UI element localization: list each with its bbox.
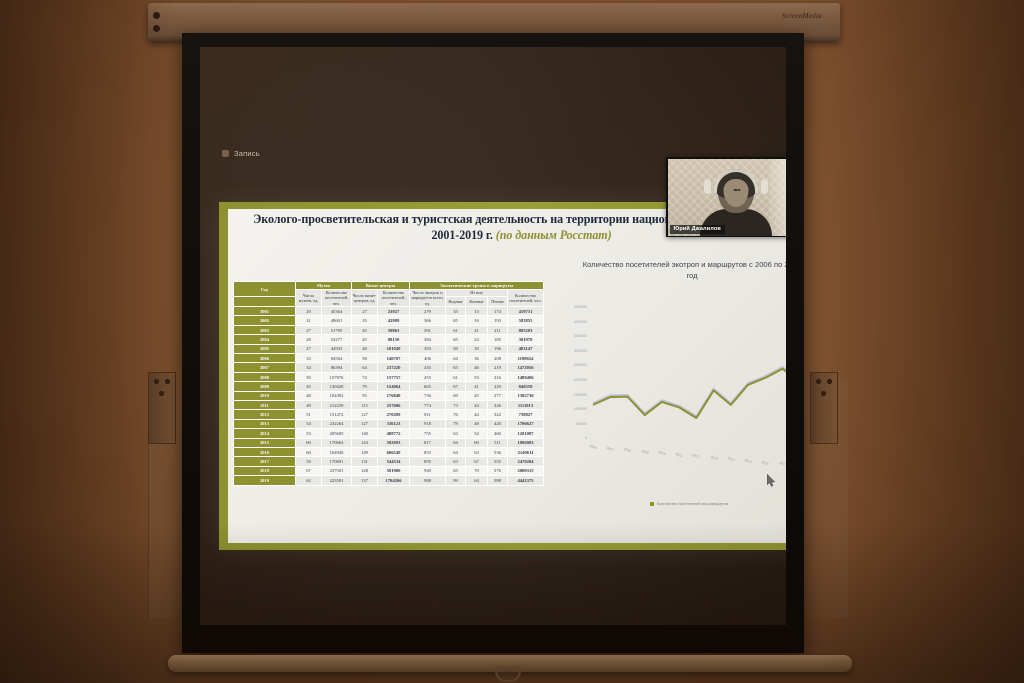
wall-shadow-right — [824, 0, 1024, 683]
webcam-video-feed: Юрий Джалилов — [668, 159, 787, 236]
x-axis-tick: 2013 — [709, 455, 717, 461]
table-cell-trail-visitors: 1489406 — [508, 372, 544, 381]
col-foot: Пешие — [488, 297, 508, 307]
table-cell-trail-visitors: 4442375 — [508, 476, 544, 485]
table-cell-horse: 64 — [466, 476, 488, 485]
table-cell-vc-visitors: 101049 — [378, 344, 410, 353]
table-cell-horse: 46 — [466, 363, 488, 372]
table-cell-museums: 27 — [296, 325, 322, 334]
col-group-of-which: Из них — [446, 290, 508, 297]
table-cell-water: 79 — [446, 419, 466, 428]
table-cell-foot: 576 — [488, 466, 508, 475]
x-axis-tick: 2009 — [640, 449, 648, 455]
table-cell-museums: 45 — [296, 382, 322, 391]
table-cell-year: 2008 — [234, 372, 296, 381]
table-cell-year: 2003 — [234, 325, 296, 334]
table-cell-museums: 59 — [296, 457, 322, 466]
table-cell-trails: 988 — [410, 476, 446, 485]
table-cell-trails: 393 — [410, 344, 446, 353]
table-cell-trail-visitors: 1201087 — [508, 429, 544, 438]
table-cell-trail-visitors: 419731 — [508, 307, 544, 316]
table-cell-trails: 366 — [410, 316, 446, 325]
x-axis-tick: 2007 — [606, 446, 614, 452]
chart-plot-area: 4500000400000035000003000000250000020000… — [553, 307, 786, 477]
table-cell-museum-visitors: 54277 — [322, 335, 352, 344]
table-cell-vc: 74 — [352, 372, 378, 381]
table-cell-year: 2006 — [234, 354, 296, 363]
slide-title-emphasis: (по данным Росстат) — [496, 228, 612, 242]
table-cell-trails: 817 — [410, 438, 446, 447]
table-cell-vc-visitors: 1704266 — [378, 476, 410, 485]
table-cell-museum-visitors: 151472 — [322, 410, 352, 419]
y-axis-tick: 3000000 — [574, 350, 587, 353]
table-cell-horse: 63 — [466, 447, 488, 456]
table-cell-year: 2009 — [234, 382, 296, 391]
table-cell-foot: 211 — [488, 325, 508, 334]
table-cell-foot: 460 — [488, 429, 508, 438]
table-cell-year: 2004 — [234, 335, 296, 344]
table-cell-horse: 16 — [466, 316, 488, 325]
table-cell-water: 63 — [446, 429, 466, 438]
casing-mount-screw — [153, 25, 160, 32]
table-cell-water: 61 — [446, 325, 466, 334]
table-cell-museum-visitors: 232264 — [322, 419, 352, 428]
bracket-screw — [165, 379, 170, 384]
table-cell-water: 65 — [446, 316, 466, 325]
y-axis-tick: 4000000 — [574, 321, 587, 324]
table-cell-trails: 853 — [410, 447, 446, 456]
table-cell-foot: 511 — [488, 438, 508, 447]
table-cell-trails: 940 — [410, 466, 446, 475]
col-group-eco-trails: Экологические тропы и маршруты — [410, 282, 544, 290]
statistics-table-wrapper: Год Музеи Визит центры Экологические тро… — [233, 281, 544, 486]
table-cell-water: 64 — [446, 438, 466, 447]
table-cell-vc-visitors: 336123 — [378, 419, 410, 428]
table-cell-museum-visitors: 164946 — [322, 447, 352, 456]
table-cell-year: 2010 — [234, 391, 296, 400]
table-cell-foot: 420 — [488, 419, 508, 428]
table-cell-water: 69 — [446, 344, 466, 353]
table-cell-water: 65 — [446, 335, 466, 344]
table-cell-water: 67 — [446, 382, 466, 391]
table-cell-horse: 24 — [466, 335, 488, 344]
table-row: 200633845645814070740664362081198654 — [234, 354, 544, 363]
whiteboard-bracket-right — [810, 372, 838, 444]
screen-pull-handle[interactable] — [495, 666, 521, 682]
col-group-visit-centers: Визит центры — [352, 282, 410, 290]
table-cell-trail-visitors: 1302730 — [508, 391, 544, 400]
table-cell-foot: 208 — [488, 354, 508, 363]
table-cell-vc: 27 — [352, 307, 378, 316]
table-cell-trails: 406 — [410, 354, 446, 363]
table-cell-museum-visitors: 157876 — [322, 372, 352, 381]
table-group-header-row: Год Музеи Визит центры Экологические тро… — [234, 282, 544, 290]
table-cell-horse: 48 — [466, 419, 488, 428]
table-cell-vc-visitors: 257606 — [378, 400, 410, 409]
table-cell-water: 99 — [446, 476, 466, 485]
table-cell-year: 2015 — [234, 438, 296, 447]
table-cell-museums: 27 — [296, 344, 322, 353]
table-cell-horse: 21 — [466, 325, 488, 334]
presentation-slide: Эколого-просветительская и туристская де… — [219, 202, 786, 550]
whiteboard-bracket-left — [148, 372, 176, 444]
casing-mount-screw — [153, 12, 160, 19]
table-cell-museums: 53 — [296, 429, 322, 438]
table-cell-water: 61 — [446, 372, 466, 381]
table-cell-vc: 45 — [352, 335, 378, 344]
table-cell-vc: 48 — [352, 344, 378, 353]
table-cell-museums: 34 — [296, 363, 322, 372]
table-cell-vc-visitors: 581900 — [378, 466, 410, 475]
table-cell-museum-visitors: 104392 — [322, 391, 352, 400]
table-cell-trail-visitors: 1706627 — [508, 419, 544, 428]
table-cell-museums: 20 — [296, 307, 322, 316]
chart-x-axis: 2006200720082009201020112012201320142015… — [589, 444, 786, 484]
table-cell-trails: 755 — [410, 429, 446, 438]
table-cell-vc: 79 — [352, 382, 378, 391]
table-cell-museums: 54 — [296, 419, 322, 428]
table-cell-vc-visitors: 237220 — [378, 363, 410, 372]
x-axis-tick: 2008 — [623, 447, 631, 453]
table-cell-museum-visitors: 84564 — [322, 354, 352, 363]
table-cell-trail-visitors: 840359 — [508, 382, 544, 391]
table-cell-horse: 44 — [466, 410, 488, 419]
table-cell-year: 2014 — [234, 429, 296, 438]
table-cell-museum-visitors: 237501 — [322, 466, 352, 475]
y-axis-tick: 3500000 — [574, 335, 587, 338]
x-axis-tick: 2015 — [744, 458, 752, 464]
table-row: 20156017066314359269381764605111906003 — [234, 438, 544, 447]
table-cell-foot: 322 — [488, 410, 508, 419]
table-cell-museum-visitors: 170691 — [322, 457, 352, 466]
slide-content: Эколого-просветительская и туристская де… — [228, 209, 786, 543]
table-cell-water: 35 — [446, 307, 466, 316]
table-cell-vc: 140 — [352, 429, 378, 438]
table-cell-vc: 95 — [352, 391, 378, 400]
record-icon — [222, 150, 229, 157]
table-cell-foot: 216 — [488, 372, 508, 381]
table-cell-trail-visitors: 2000315 — [508, 466, 544, 475]
table-row: 20052744933481010493936930196403147 — [234, 344, 544, 353]
table-cell-vc-visitors: 592693 — [378, 438, 410, 447]
table-row: 2008501578767415775745561532161489406 — [234, 372, 544, 381]
table-cell-trail-visitors: 1472056 — [508, 363, 544, 372]
table-cell-museums: 60 — [296, 438, 322, 447]
table-row: 2010481043929517684073669452771302730 — [234, 391, 544, 400]
table-cell-foot: 588 — [488, 476, 508, 485]
table-cell-museums: 62 — [296, 476, 322, 485]
table-cell-vc: 131 — [352, 457, 378, 466]
table-cell-vc-visitors: 270209 — [378, 410, 410, 419]
table-cell-vc: 45 — [352, 325, 378, 334]
table-cell-trail-visitors: 2470204 — [508, 457, 544, 466]
table-cell-trails: 774 — [410, 400, 446, 409]
table-cell-year: 2005 — [234, 344, 296, 353]
table-cell-trail-visitors: 1906003 — [508, 438, 544, 447]
bracket-screw — [827, 379, 832, 384]
table-cell-museums: 33 — [296, 354, 322, 363]
y-axis-tick: 500000 — [576, 423, 587, 426]
webcam-overlay[interactable]: Юрий Джалилов — [666, 157, 786, 237]
table-cell-museum-visitors: 48601 — [322, 316, 352, 325]
table-cell-foot: 536 — [488, 447, 508, 456]
headphone-cup-left — [704, 179, 711, 194]
table-cell-horse: 36 — [466, 354, 488, 363]
y-axis-tick: 1500000 — [574, 394, 587, 397]
table-cell-horse: 45 — [466, 391, 488, 400]
col-vc-visitors: Количество посетителей, чел. — [378, 290, 410, 307]
table-cell-year: 2012 — [234, 410, 296, 419]
table-cell-vc: 127 — [352, 410, 378, 419]
table-cell-horse: 53 — [466, 372, 488, 381]
table-cell-horse: 44 — [466, 400, 488, 409]
table-cell-foot: 174 — [488, 307, 508, 316]
table-cell-trail-visitors: 403147 — [508, 344, 544, 353]
table-cell-foot: 555 — [488, 457, 508, 466]
x-axis-tick: 2012 — [692, 453, 700, 459]
table-cell-water: 64 — [446, 354, 466, 363]
x-axis-tick: 2006 — [589, 444, 597, 450]
table-cell-horse: 67 — [466, 457, 488, 466]
recording-indicator: Запись — [222, 149, 260, 158]
table-cell-museums: 60 — [296, 447, 322, 456]
table-cell-horse: 60 — [466, 438, 488, 447]
table-cell-water: 73 — [446, 400, 466, 409]
table-row: 201962223581137170426698899645884442375 — [234, 476, 544, 485]
recording-label: Запись — [234, 149, 260, 158]
table-row: 20145320560514048877275563544601201087 — [234, 429, 544, 438]
participant-name-label: Юрий Джалилов — [670, 225, 725, 234]
x-axis-tick: 2011 — [675, 452, 683, 458]
table-cell-horse: 41 — [466, 382, 488, 391]
table-cell-vc-visitors: 157757 — [378, 372, 410, 381]
bracket-screw — [821, 391, 826, 396]
headphone-cup-right — [761, 179, 768, 194]
table-row: 200734863946423722043565462191472056 — [234, 363, 544, 372]
table-cell-vc: 58 — [352, 354, 378, 363]
table-cell-horse: 54 — [466, 429, 488, 438]
table-cell-trails: 918 — [410, 419, 446, 428]
table-cell-museum-visitors: 86394 — [322, 363, 352, 372]
table-row: 200945130428791540646656741229840359 — [234, 382, 544, 391]
table-cell-museum-visitors: 223581 — [322, 476, 352, 485]
table-cell-water: 65 — [446, 466, 466, 475]
table-cell-vc-visitors: 59863 — [378, 325, 410, 334]
table-cell-vc-visitors: 140707 — [378, 354, 410, 363]
col-museum-visitors: Количество посетителей, чел. — [322, 290, 352, 307]
table-cell-foot: 196 — [488, 344, 508, 353]
table-cell-vc: 149 — [352, 447, 378, 456]
table-body: 2001204536427239272793513174419731200221… — [234, 307, 544, 485]
table-cell-trails: 736 — [410, 391, 446, 400]
table-cell-foot: 277 — [488, 391, 508, 400]
col-water: Водные — [446, 297, 466, 307]
projector-screen-surface: Запись Эколого-просветительская и турист… — [200, 47, 786, 625]
bracket-screw — [816, 379, 821, 384]
table-cell-museums: 49 — [296, 400, 322, 409]
room-scene: ScreenMedia Запись Эколо — [0, 0, 1024, 683]
table-cell-vc: 115 — [352, 400, 378, 409]
table-cell-museum-visitors: 44933 — [322, 344, 352, 353]
screen-brand-logo: ScreenMedia — [782, 12, 822, 20]
table-cell-trails: 391 — [410, 325, 446, 334]
col-museums-count: Число музеев, ед. — [296, 290, 322, 307]
table-head: Год Музеи Визит центры Экологические тро… — [234, 282, 544, 307]
table-cell-vc-visitors: 42989 — [378, 316, 410, 325]
table-cell-trails: 279 — [410, 307, 446, 316]
bracket-screw — [154, 379, 159, 384]
table-cell-water: 69 — [446, 391, 466, 400]
table-cell-trail-visitors: 582855 — [508, 316, 544, 325]
y-axis-tick: 4500000 — [574, 306, 587, 309]
table-row: 20186723750112858190094065705762000315 — [234, 466, 544, 475]
table-cell-trail-visitors: 301970 — [508, 335, 544, 344]
table-row: 2001204536427239272793513174419731 — [234, 307, 544, 316]
table-cell-vc-visitors: 606549 — [378, 447, 410, 456]
table-row: 2004285427745981503846524185301970 — [234, 335, 544, 344]
table-cell-trails: 435 — [410, 363, 446, 372]
table-cell-vc: 35 — [352, 316, 378, 325]
table-cell-vc: 64 — [352, 363, 378, 372]
table-cell-year: 2002 — [234, 316, 296, 325]
table-row: 2012511514721272702098117644322738827 — [234, 410, 544, 419]
col-horse: Конные — [466, 297, 488, 307]
table-cell-year: 2001 — [234, 307, 296, 316]
table-cell-trail-visitors: 2149611 — [508, 447, 544, 456]
table-cell-vc: 127 — [352, 419, 378, 428]
table-cell-year: 2016 — [234, 447, 296, 456]
table-cell-water: 65 — [446, 363, 466, 372]
table-cell-year: 2018 — [234, 466, 296, 475]
col-trail-visitors: Количество посетителей, чел. — [508, 290, 544, 307]
slide-title-line1: Эколого-просветительская и туристская де… — [253, 212, 563, 226]
webcam-window-light — [769, 159, 786, 236]
table-cell-horse: 13 — [466, 307, 488, 316]
table-cell-trail-visitors: 1198654 — [508, 354, 544, 363]
x-axis-tick: 2014 — [727, 456, 735, 462]
table-cell-vc: 137 — [352, 476, 378, 485]
legend-swatch-icon — [650, 502, 654, 506]
x-axis-tick: 2017 — [778, 461, 786, 467]
x-axis-tick: 2016 — [761, 460, 769, 466]
bracket-screw — [159, 391, 164, 396]
table-cell-trail-visitors: 738827 — [508, 410, 544, 419]
table-cell-water: 76 — [446, 410, 466, 419]
table-cell-museum-visitors: 51795 — [322, 325, 352, 334]
table-cell-museums: 48 — [296, 391, 322, 400]
table-cell-museums: 51 — [296, 410, 322, 419]
col-group-year: Год — [234, 282, 296, 297]
table-row: 20114921223911525760677473443261111013 — [234, 400, 544, 409]
table-row: 20135423226412733612391879484201706627 — [234, 419, 544, 428]
table-cell-trail-visitors: 1111013 — [508, 400, 544, 409]
chart-y-axis: 4500000400000035000003000000250000020000… — [553, 307, 587, 442]
chart-series-line — [589, 307, 786, 443]
table-cell-museum-visitors: 170663 — [322, 438, 352, 447]
table-cell-year: 2007 — [234, 363, 296, 372]
table-cell-year: 2019 — [234, 476, 296, 485]
table-cell-vc: 128 — [352, 466, 378, 475]
col-vc-count: Число визит-центров, ед. — [352, 290, 378, 307]
table-cell-museum-visitors: 130428 — [322, 382, 352, 391]
table-cell-vc-visitors: 98150 — [378, 335, 410, 344]
table-cell-foot: 229 — [488, 382, 508, 391]
table-cell-horse: 30 — [466, 344, 488, 353]
table-cell-museum-visitors: 45364 — [322, 307, 352, 316]
table-cell-water: 63 — [446, 457, 466, 466]
table-cell-horse: 70 — [466, 466, 488, 475]
table-cell-year: 2011 — [234, 400, 296, 409]
legend-label: Количество посетителей эко-маршрутов — [657, 502, 728, 506]
chart-title: Количество посетителей экотроп и маршрут… — [553, 259, 786, 281]
table-cell-vc-visitors: 488772 — [378, 429, 410, 438]
statistics-table: Год Музеи Визит центры Экологические тро… — [233, 281, 544, 486]
table-row: 2002214860135429893666516193582855 — [234, 316, 544, 325]
table-cell-foot: 185 — [488, 335, 508, 344]
y-axis-tick: 2500000 — [574, 364, 587, 367]
col-group-museums: Музеи — [296, 282, 352, 290]
projector-screen-border: Запись Эколого-просветительская и турист… — [182, 33, 804, 653]
y-axis-tick: 1000000 — [574, 408, 587, 411]
table-cell-trail-visitors: 805203 — [508, 325, 544, 334]
table-cell-vc-visitors: 154064 — [378, 382, 410, 391]
table-cell-museum-visitors: 205605 — [322, 429, 352, 438]
table-cell-water: 64 — [446, 447, 466, 456]
table-row: 20166016494614960654985364635362149611 — [234, 447, 544, 456]
table-cell-museum-visitors: 212239 — [322, 400, 352, 409]
table-cell-vc-visitors: 544534 — [378, 457, 410, 466]
table-cell-museums: 21 — [296, 316, 322, 325]
y-axis-tick: 0 — [585, 437, 587, 440]
table-cell-vc-visitors: 176840 — [378, 391, 410, 400]
table-cell-trails: 384 — [410, 335, 446, 344]
table-cell-foot: 326 — [488, 400, 508, 409]
table-cell-trails: 811 — [410, 410, 446, 419]
x-axis-tick: 2010 — [658, 450, 666, 456]
table-cell-museums: 28 — [296, 335, 322, 344]
col-year-spacer — [234, 297, 296, 307]
table-row: 2003275179545598633916121211805203 — [234, 325, 544, 334]
table-cell-museums: 67 — [296, 466, 322, 475]
table-cell-museums: 50 — [296, 372, 322, 381]
chart-legend: Количество посетителей эко-маршрутов — [553, 502, 786, 506]
table-cell-vc: 143 — [352, 438, 378, 447]
visitors-line-chart: Количество посетителей экотроп и маршрут… — [553, 259, 786, 543]
table-cell-year: 2017 — [234, 457, 296, 466]
table-row: 20175917069113154453489563675552470204 — [234, 457, 544, 466]
table-cell-foot: 193 — [488, 316, 508, 325]
table-cell-vc-visitors: 23927 — [378, 307, 410, 316]
table-cell-year: 2013 — [234, 419, 296, 428]
table-cell-trails: 665 — [410, 382, 446, 391]
col-trails-total: Число экотроп и маршрутов всего, ед. — [410, 290, 446, 307]
y-axis-tick: 2000000 — [574, 379, 587, 382]
table-cell-trails: 895 — [410, 457, 446, 466]
table-cell-foot: 219 — [488, 363, 508, 372]
table-cell-trails: 455 — [410, 372, 446, 381]
